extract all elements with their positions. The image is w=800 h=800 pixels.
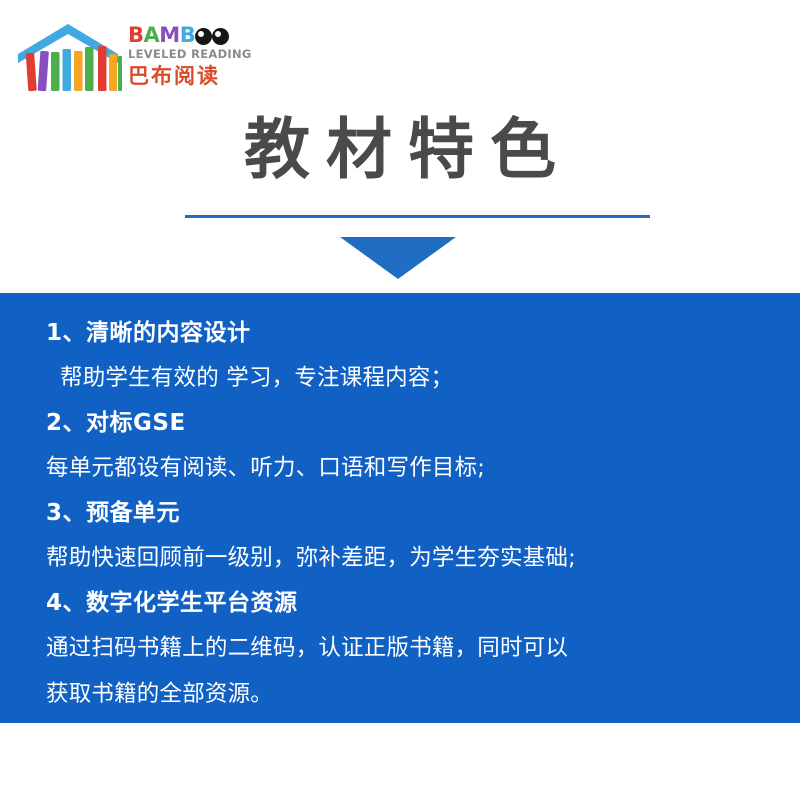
feature-body-4-line-1: 通过扫码书籍上的二维码，认证正版书籍，同时可以 xyxy=(46,625,770,671)
logo-letter-a: A xyxy=(144,24,160,46)
brand-wordmark: BAMB LEVELED READING 巴布阅读 xyxy=(128,24,252,100)
panda-eye-left-icon xyxy=(195,28,212,45)
brand-logo: BAMB LEVELED READING 巴布阅读 xyxy=(12,12,252,97)
feature-heading-4: 4、数字化学生平台资源 xyxy=(46,581,770,625)
feature-heading-2: 2、对标GSE xyxy=(46,401,770,445)
down-arrow-icon xyxy=(340,237,456,279)
feature-body-3-line-1: 帮助快速回顾前一级别，弥补差距，为学生夯实基础; xyxy=(46,535,770,581)
brand-chinese-name: 巴布阅读 xyxy=(128,63,252,89)
bamboo-house-books-icon xyxy=(14,20,122,98)
logo-letter-m: M xyxy=(159,24,179,46)
title-divider xyxy=(185,215,650,218)
panda-eye-right-icon xyxy=(212,28,229,45)
logo-letter-b2: B xyxy=(180,24,196,46)
feature-body-1-line-1: 帮助学生有效的 学习，专注课程内容； xyxy=(46,355,770,401)
feature-body-4-line-2: 获取书籍的全部资源。 xyxy=(46,671,770,717)
logo-letter-b1: B xyxy=(128,24,144,46)
feature-heading-3: 3、预备单元 xyxy=(46,491,770,535)
feature-heading-1: 1、清晰的内容设计 xyxy=(46,311,770,355)
bamboo-letters: BAMB xyxy=(128,24,252,46)
brand-tagline: LEVELED READING xyxy=(128,47,252,61)
features-panel: 1、清晰的内容设计 帮助学生有效的 学习，专注课程内容； 2、对标GSE 每单元… xyxy=(0,293,800,723)
feature-body-2-line-1: 每单元都设有阅读、听力、口语和写作目标; xyxy=(46,445,770,491)
page-title: 教材特色 xyxy=(0,104,800,194)
